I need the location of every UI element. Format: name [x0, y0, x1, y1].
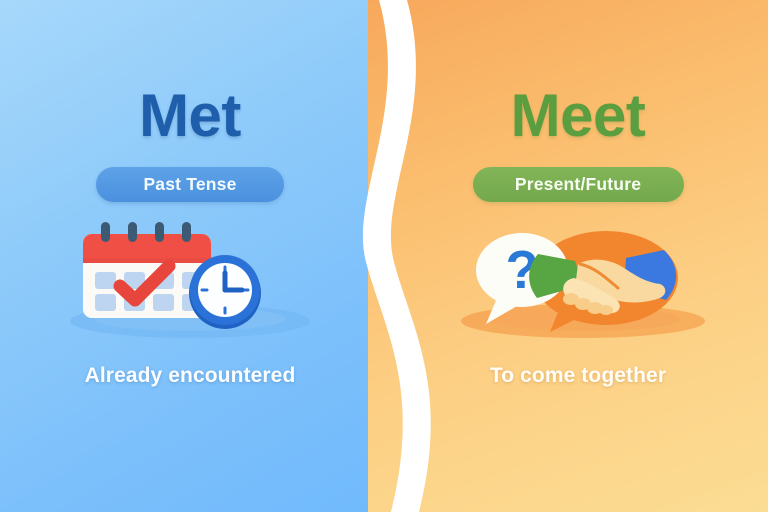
handshake-speech-bubble-illustration: ? — [428, 220, 728, 340]
left-caption: Already encountered — [85, 364, 296, 388]
right-caption: To come together — [490, 364, 666, 388]
clock-icon — [189, 255, 261, 329]
right-word-title: Meet — [511, 86, 646, 146]
right-tense-badge: Present/Future — [473, 167, 684, 202]
left-word-title: Met — [139, 86, 241, 146]
calendar-clock-illustration — [40, 220, 340, 340]
left-tense-badge: Past Tense — [96, 167, 284, 202]
right-content: Meet Present/Future ? — [388, 0, 768, 512]
left-content: Met Past Tense — [0, 0, 380, 512]
comparison-infographic: Met Past Tense — [0, 0, 768, 512]
